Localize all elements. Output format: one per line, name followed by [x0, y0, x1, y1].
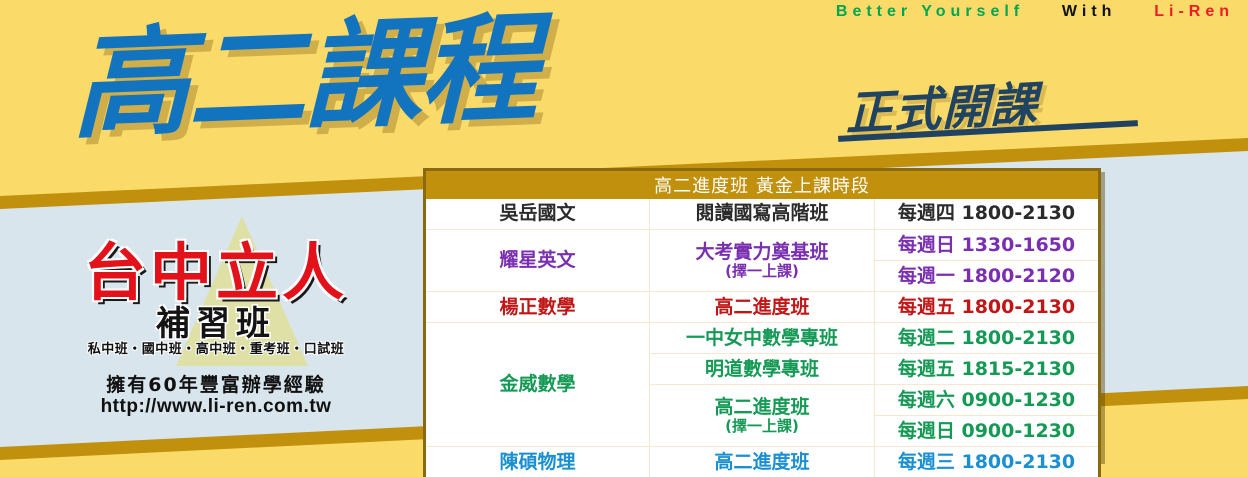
cell-time: 每週二 1800-2130 [875, 323, 1100, 354]
cell-time: 每週日 1330-1650 [875, 230, 1100, 261]
strapline-part-2: With [1062, 3, 1117, 20]
cell-course: 高二進度班 [650, 447, 875, 477]
brand-logo: 台中立人 補習班 私中班・國中班・高中班・重考班・口試班 擁有60年豐富辦學經驗… [26, 218, 406, 418]
cell-time: 每週五 1800-2130 [875, 292, 1100, 323]
schedule-header-title: 高二進度班 黃金上課時段 [425, 170, 1100, 199]
strapline-part-1: Better Yourself [836, 3, 1024, 20]
page-title: 高二課程 [72, 3, 536, 151]
cell-time: 每週日 0900-1230 [875, 416, 1100, 447]
table-header-row: 高二進度班 黃金上課時段 [425, 170, 1100, 199]
schedule-table-body: 吳岳國文閱讀國寫高階班每週四 1800-2130耀星英文大考實力奠基班(擇一上課… [425, 199, 1100, 477]
cell-course: 一中女中數學專班 [650, 323, 875, 354]
strapline-part-3: Li-Ren [1154, 3, 1234, 20]
cell-time: 每週六 0900-1230 [875, 385, 1100, 416]
poster-canvas: Better Yourself With Li-Ren 高二課程 正式開課 台中… [0, 0, 1248, 477]
cell-teacher: 吳岳國文 [425, 199, 650, 230]
cell-teacher: 耀星英文 [425, 230, 650, 292]
table-row: 金威數學一中女中數學專班每週二 1800-2130 [425, 323, 1100, 354]
cell-teacher: 金威數學 [425, 323, 650, 447]
cell-course-note: (擇一上課) [650, 418, 874, 434]
cell-course: 高二進度班(擇一上課) [650, 385, 875, 447]
cell-course: 大考實力奠基班(擇一上課) [650, 230, 875, 292]
table-row: 耀星英文大考實力奠基班(擇一上課)每週日 1330-1650 [425, 230, 1100, 261]
cell-course: 明道數學專班 [650, 354, 875, 385]
table-row: 吳岳國文閱讀國寫高階班每週四 1800-2130 [425, 199, 1100, 230]
table-row: 陳碩物理高二進度班每週三 1800-2130 [425, 447, 1100, 477]
logo-experience: 擁有60年豐富辦學經驗 [36, 370, 396, 397]
logo-website-url[interactable]: http://www.li-ren.com.tw [36, 396, 396, 418]
cell-course: 高二進度班 [650, 292, 875, 323]
cell-teacher: 楊正數學 [425, 292, 650, 323]
cell-time: 每週五 1815-2130 [875, 354, 1100, 385]
cell-time: 每週三 1800-2130 [875, 447, 1100, 477]
schedule-table: 高二進度班 黃金上課時段 吳岳國文閱讀國寫高階班每週四 1800-2130耀星英… [423, 168, 1101, 477]
cell-course: 閱讀國寫高階班 [650, 199, 875, 230]
cell-course-note: (擇一上課) [650, 263, 874, 279]
logo-class-tags: 私中班・國中班・高中班・重考班・口試班 [36, 338, 396, 357]
cell-teacher: 陳碩物理 [425, 447, 650, 477]
cell-time: 每週一 1800-2120 [875, 261, 1100, 292]
table-row: 楊正數學高二進度班每週五 1800-2130 [425, 292, 1100, 323]
english-strapline: Better Yourself With Li-Ren [836, 3, 1234, 21]
cell-time: 每週四 1800-2130 [875, 199, 1100, 230]
